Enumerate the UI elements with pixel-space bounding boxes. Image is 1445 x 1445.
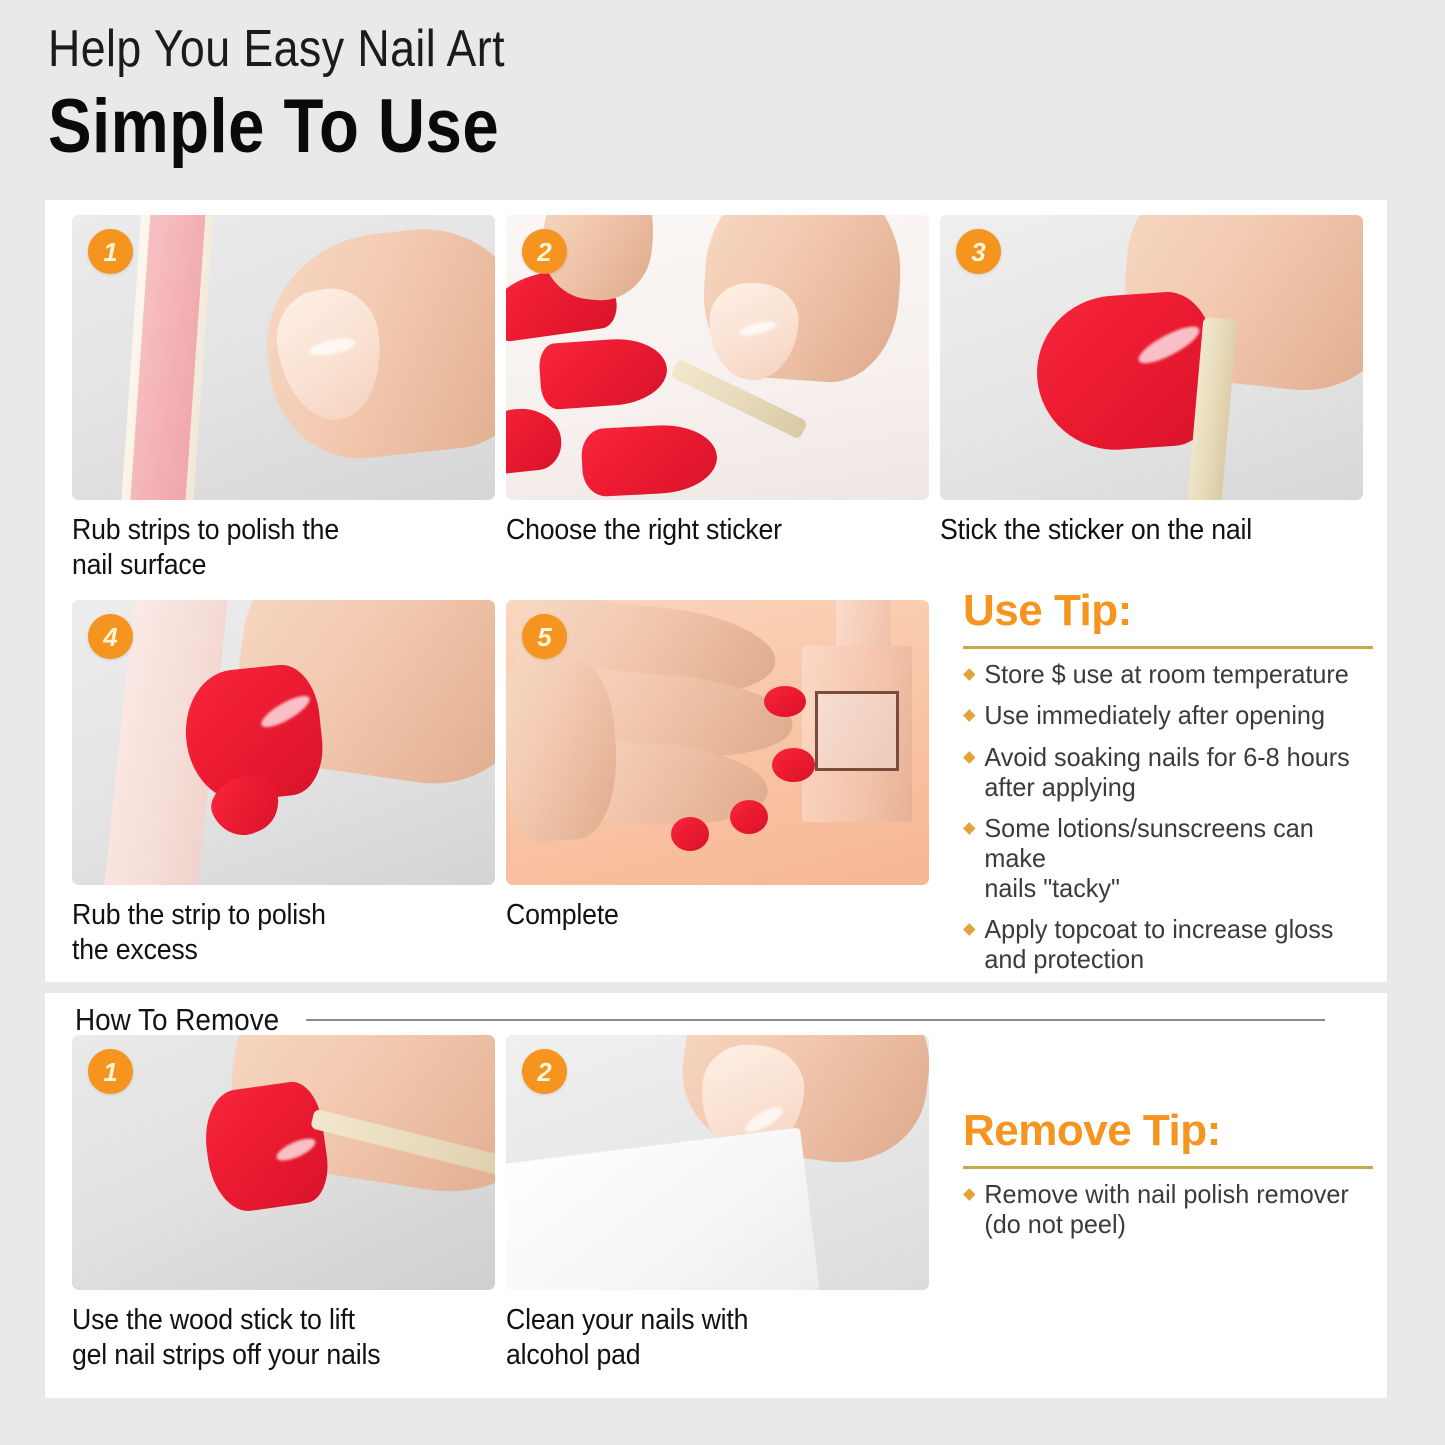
how-to-remove-heading: How To Remove (75, 1002, 1325, 1038)
use-step-2-caption: Choose the right sticker (506, 513, 895, 548)
step-badge: 1 (88, 1049, 133, 1094)
step-badge: 4 (88, 614, 133, 659)
use-tip-item-text: Store $ use at room temperature (984, 659, 1348, 689)
remove-tip-item-text: Remove with nail polish remover (do not … (984, 1179, 1348, 1239)
scene-wood-stick-lifting-strip (72, 1035, 495, 1290)
diamond-bullet-icon (963, 668, 975, 681)
use-tip-item: Apply topcoat to increase gloss and prot… (963, 914, 1361, 974)
remove-tip-divider (963, 1166, 1373, 1169)
step-badge: 2 (522, 1049, 567, 1094)
remove-step-2-image: 2 (506, 1035, 929, 1290)
remove-tip-item: Remove with nail polish remover (do not … (963, 1179, 1361, 1239)
use-tip-item-text: Use immediately after opening (984, 700, 1325, 730)
remove-step-1-caption: Use the wood stick to lift gel nail stri… (72, 1303, 461, 1374)
remove-tip-list: Remove with nail polish remover (do not … (963, 1179, 1373, 1239)
scene-nail-file-on-nail (72, 215, 495, 500)
use-step-4: 4 Rub the strip to polish the excess (72, 600, 495, 969)
red-nail (764, 686, 806, 717)
scene-finished-hand-with-perfume-bottle (506, 600, 929, 885)
use-tip-item: Avoid soaking nails for 6-8 hours after … (963, 742, 1361, 802)
red-nail (671, 817, 709, 851)
use-step-1-image: 1 (72, 215, 495, 500)
remove-step-1: 1 Use the wood stick to lift gel nail st… (72, 1035, 495, 1374)
step-badge: 1 (88, 229, 133, 274)
how-to-remove-rule (306, 1019, 1325, 1021)
diamond-bullet-icon (963, 822, 975, 835)
page-title: Simple To Use (48, 84, 908, 169)
use-step-5: 5 Complete (506, 600, 929, 933)
use-step-4-image: 4 (72, 600, 495, 885)
use-step-3: 3 Stick the sticker on the nail (940, 215, 1363, 548)
page-header: Help You Easy Nail Art Simple To Use (48, 20, 1048, 169)
remove-tip-title: Remove Tip: (963, 1108, 1373, 1154)
diamond-bullet-icon (963, 1188, 975, 1201)
remove-tip-block: Remove Tip: Remove with nail polish remo… (963, 1108, 1373, 1251)
step-badge: 2 (522, 229, 567, 274)
red-nail (730, 800, 768, 834)
scene-red-sticker-on-nail-with-stick (940, 215, 1363, 500)
page-subtitle: Help You Easy Nail Art (48, 20, 908, 78)
remove-step-2: 2 Clean your nails with alcohol pad (506, 1035, 929, 1374)
use-tip-list: Store $ use at room temperature Use imme… (963, 659, 1373, 974)
use-step-3-caption: Stick the sticker on the nail (940, 513, 1329, 548)
how-to-remove-label: How To Remove (75, 1002, 279, 1038)
use-step-3-image: 3 (940, 215, 1363, 500)
infographic-page: Help You Easy Nail Art Simple To Use 1 R… (0, 0, 1445, 1445)
red-nail (772, 748, 814, 782)
use-tip-divider (963, 646, 1373, 649)
diamond-bullet-icon (963, 923, 975, 936)
step-badge: 3 (956, 229, 1001, 274)
scene-alcohol-pad-on-nail (506, 1035, 929, 1290)
use-tip-item-text: Some lotions/sunscreens can make nails "… (984, 813, 1313, 903)
use-tip-item: Use immediately after opening (963, 700, 1361, 730)
diamond-bullet-icon (963, 709, 975, 722)
diamond-bullet-icon (963, 751, 975, 764)
scene-buffing-excess-strip (72, 600, 495, 885)
step-badge: 5 (522, 614, 567, 659)
use-tip-title: Use Tip: (963, 588, 1373, 634)
use-step-5-caption: Complete (506, 898, 895, 933)
use-tip-item: Some lotions/sunscreens can make nails "… (963, 813, 1361, 903)
use-tip-item-text: Avoid soaking nails for 6-8 hours after … (984, 742, 1349, 802)
use-step-2-image: 2 (506, 215, 929, 500)
remove-step-2-caption: Clean your nails with alcohol pad (506, 1303, 895, 1374)
use-tip-item: Store $ use at room temperature (963, 659, 1361, 689)
use-step-1-caption: Rub strips to polish the nail surface (72, 513, 461, 584)
use-step-1: 1 Rub strips to polish the nail surface (72, 215, 495, 584)
perfume-bottle-label (815, 691, 900, 771)
use-step-4-caption: Rub the strip to polish the excess (72, 898, 461, 969)
remove-step-1-image: 1 (72, 1035, 495, 1290)
use-step-5-image: 5 (506, 600, 929, 885)
use-tip-item-text: Apply topcoat to increase gloss and prot… (984, 914, 1333, 974)
use-tip-block: Use Tip: Store $ use at room temperature… (963, 588, 1373, 986)
hand-back (506, 659, 622, 843)
use-step-2: 2 Choose the right sticker (506, 215, 929, 548)
scene-sticker-sheet-with-fingers (506, 215, 929, 500)
